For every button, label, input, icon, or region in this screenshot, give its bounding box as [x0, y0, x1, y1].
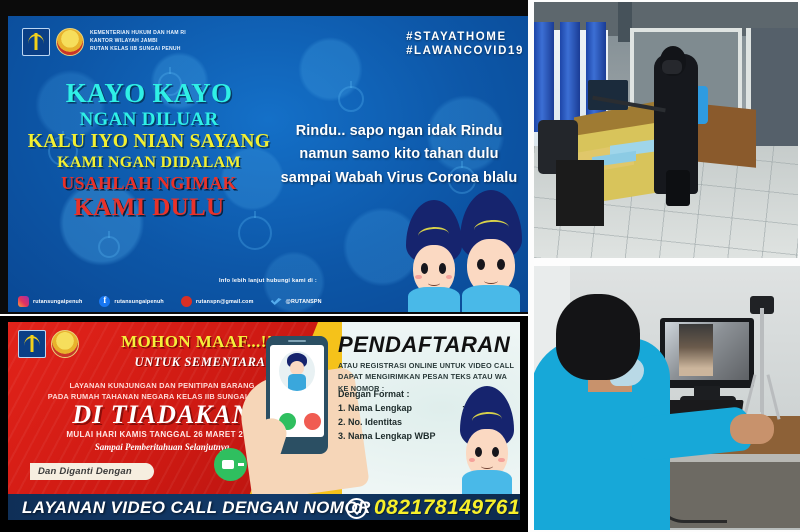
- verse-line-1: Rindu.. sapo ngan idak Rindu: [270, 120, 528, 143]
- whatsapp-number: 082178149761: [374, 496, 520, 520]
- registration-item: 3. Nama Lengkap WBP :: [338, 431, 478, 441]
- banner-artwork: KEMENTERIAN HUKUM DAN HAM RI KANTOR WILA…: [8, 16, 528, 312]
- verse-block: Rindu.. sapo ngan idak Rindu namun samo …: [270, 120, 528, 190]
- whatsapp-contact[interactable]: 082178149761: [346, 496, 520, 520]
- curtain: [534, 22, 554, 132]
- visit-suspension-poster-panel: MOHON MAAF...!!! UNTUK SEMENTARA LAYANAN…: [0, 316, 528, 532]
- staff-head: [556, 294, 640, 380]
- twitter-handle: @RUTANSPN: [286, 299, 322, 305]
- institution-header: KEMENTERIAN HUKUM DAN HAM RI KANTOR WILA…: [22, 28, 186, 56]
- facebook-link[interactable]: rutansungaipenuh: [99, 296, 163, 307]
- poster-mascot-female: [460, 386, 514, 494]
- mascot-eye: [477, 259, 485, 270]
- jambi-province-logo-icon: [56, 28, 84, 56]
- institution-lines: KEMENTERIAN HUKUM DAN HAM RI KANTOR WILA…: [90, 30, 186, 54]
- caller-avatar: [279, 351, 315, 391]
- hashtag-lawancovid19: #LAWANCOVID19: [406, 44, 524, 58]
- mascot-uniform: [462, 285, 519, 312]
- disinfection-photo: [534, 2, 798, 258]
- instagram-icon: [18, 296, 29, 307]
- mascot-mouth: [481, 464, 492, 469]
- virus-decor-icon: [338, 86, 364, 112]
- mascot-cheek: [469, 458, 475, 462]
- jambi-province-logo-icon: [51, 330, 79, 358]
- registration-item: 2. No. Identitas :: [338, 417, 478, 427]
- mascot-eye: [475, 447, 482, 457]
- twitter-link[interactable]: @RUTANSPN: [271, 296, 322, 307]
- covid-banner-panel: KEMENTERIAN HUKUM DAN HAM RI KANTOR WILA…: [0, 0, 528, 314]
- contact-heading: Info lebih lanjut hubungi kami di :: [8, 278, 528, 284]
- gas-mask-icon: [662, 60, 682, 74]
- hashtag-block: #STAYATHOME #LAWANCOVID19: [406, 30, 524, 58]
- reject-call-button[interactable]: [304, 413, 321, 430]
- registration-item-label: 3. Nama Lengkap WBP: [338, 431, 436, 441]
- photo-collage: KEMENTERIAN HUKUM DAN HAM RI KANTOR WILA…: [0, 0, 800, 532]
- mascot-cheek: [498, 458, 504, 462]
- gmail-icon: [181, 296, 192, 307]
- registration-item-label: 1. Nama Lengkap: [338, 403, 412, 413]
- registration-format-label: Dengan Format :: [338, 389, 410, 399]
- desktop-tower: [556, 160, 604, 226]
- kemenkumham-logo-icon: [18, 330, 46, 358]
- registration-body-line-1: ATAU REGISTRASI ONLINE UNTUK VIDEO CALL: [338, 360, 518, 371]
- mascot-eye: [492, 447, 499, 457]
- whatsapp-icon: [346, 498, 367, 519]
- ministry-line-2: KANTOR WILAYAH JAMBI: [90, 38, 186, 46]
- hashtag-stayathome: #STAYATHOME: [406, 30, 524, 44]
- slogan-line-1: KAYO KAYO: [24, 80, 274, 107]
- slogan-line-3: KALU IYO NIAN SAYANG: [24, 132, 274, 152]
- slogan-block: KAYO KAYO NGAN DILUAR KALU IYO NIAN SAYA…: [24, 80, 274, 223]
- video-call-window: [679, 324, 713, 376]
- video-call-service-label: LAYANAN VIDEO CALL DENGAN NOMOR: [22, 498, 371, 518]
- rubber-boot: [666, 170, 690, 206]
- mascot-male: [460, 190, 522, 312]
- social-links-row: rutansungaipenuh rutansungaipenuh rutans…: [18, 296, 418, 307]
- video-call-icon: [214, 448, 247, 481]
- ministry-line-1: KEMENTERIAN HUKUM DAN HAM RI: [90, 30, 186, 38]
- registration-body-line-2: DAPAT MENGIRIMKAN PESAN TEKS ATAU WA: [338, 371, 518, 382]
- poster-footer-bar: LAYANAN VIDEO CALL DENGAN NOMOR 08217814…: [8, 494, 520, 520]
- slogan-line-4: KAMI NGAN DIDALAM: [24, 155, 274, 171]
- staff-hand: [730, 414, 774, 444]
- ministry-line-3: RUTAN KELAS IIB SUNGAI PENUH: [90, 46, 186, 54]
- video-call-photo: [534, 266, 800, 530]
- registration-title: PENDAFTARAN: [338, 332, 510, 358]
- facebook-handle: rutansungaipenuh: [114, 299, 163, 305]
- mascot-eye: [421, 263, 428, 273]
- replacement-label: Dan Diganti Dengan: [30, 463, 154, 480]
- mascot-eye: [439, 263, 446, 273]
- mascot-uniform: [462, 470, 512, 494]
- poster-logo-row: [18, 330, 79, 358]
- email-address: rutanspn@gmail.com: [196, 299, 254, 305]
- slogan-line-2: NGAN DILUAR: [24, 110, 274, 129]
- instagram-link[interactable]: rutansungaipenuh: [18, 296, 82, 307]
- twitter-icon: [271, 296, 282, 307]
- phone-speaker-icon: [288, 340, 306, 343]
- avatar-face: [290, 361, 304, 375]
- avatar-body: [288, 374, 307, 391]
- curtain: [560, 22, 580, 132]
- mascot-eye: [497, 259, 505, 270]
- slogan-line-6: KAMI DULU: [24, 195, 274, 220]
- instagram-handle: rutansungaipenuh: [33, 299, 82, 305]
- email-link[interactable]: rutanspn@gmail.com: [181, 296, 254, 307]
- kemenkumham-logo-icon: [22, 28, 50, 56]
- verse-line-2: namun samo kito tahan dulu: [270, 143, 528, 166]
- slogan-line-5: USAHLAH NGIMAK: [24, 174, 274, 192]
- registration-item: 1. Nama Lengkap :: [338, 403, 478, 413]
- poster-artwork: MOHON MAAF...!!! UNTUK SEMENTARA LAYANAN…: [8, 322, 520, 494]
- verse-line-3: sampai Wabah Virus Corona blalu: [270, 167, 528, 190]
- virus-decor-icon: [98, 236, 120, 258]
- registration-item-label: 2. No. Identitas: [338, 417, 402, 427]
- facebook-icon: [99, 296, 110, 307]
